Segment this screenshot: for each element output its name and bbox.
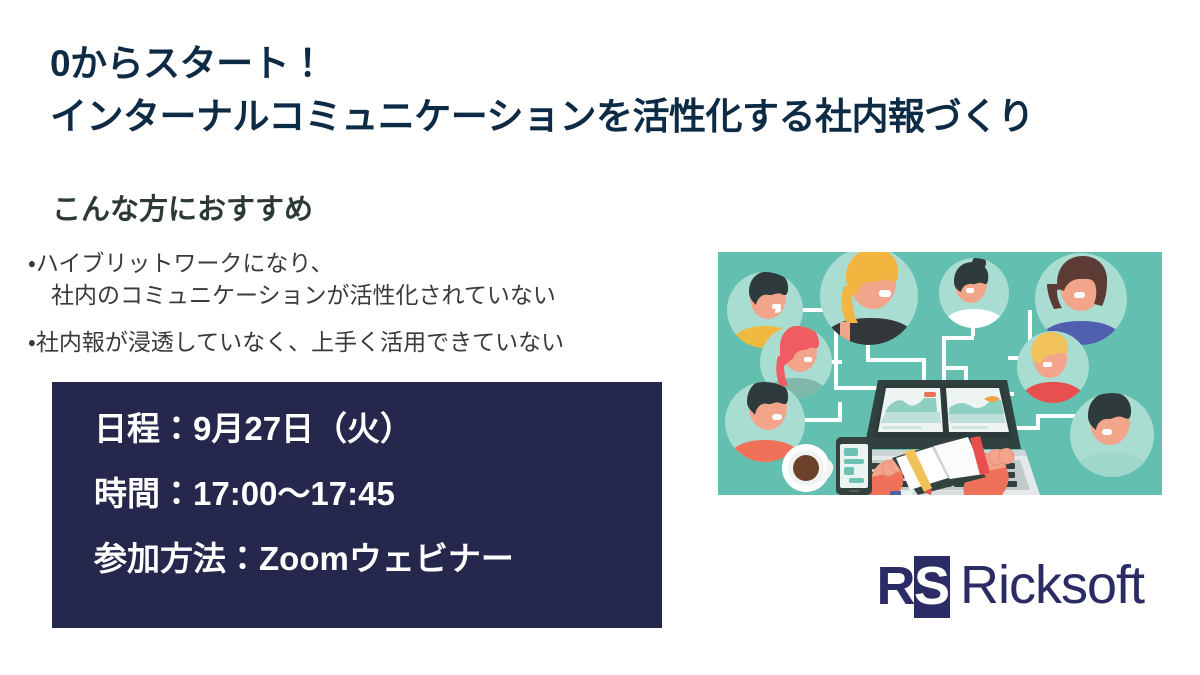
recommendation-list: ・ハイブリットワークになり、 社内のコミュニケーションが活性化されていない ・社… xyxy=(28,248,708,375)
logo-mark-letter-s: S xyxy=(914,556,950,618)
event-date: 日程：9月27日（火） xyxy=(94,412,662,445)
logo-mark-letter-r: R xyxy=(878,556,914,618)
list-item: ・ハイブリットワークになり、 社内のコミュニケーションが活性化されていない xyxy=(28,248,708,311)
list-item: ・社内報が浸透していなく、上手く活用できていない xyxy=(28,327,708,359)
event-join-method: 参加方法：Zoomウェビナー xyxy=(94,542,662,575)
webinar-slide: 0からスタート！ インターナルコミュニケーションを活性化する社内報づくり こんな… xyxy=(0,0,1200,675)
logo-wordmark: Ricksoft xyxy=(960,558,1144,616)
title-line-1: 0からスタート！ xyxy=(50,38,1170,91)
recommendation-heading: こんな方におすすめ xyxy=(52,186,313,228)
event-time: 時間：17:00〜17:45 xyxy=(94,477,662,510)
title-line-2: インターナルコミュニケーションを活性化する社内報づくり xyxy=(50,91,1170,144)
event-details-box: 日程：9月27日（火） 時間：17:00〜17:45 参加方法：Zoomウェビナ… xyxy=(52,382,662,628)
logo-mark-icon: R S xyxy=(878,556,950,618)
ricksoft-logo: R S Ricksoft xyxy=(878,556,1144,618)
remote-team-collaboration-illustration xyxy=(718,252,1162,495)
page-title: 0からスタート！ インターナルコミュニケーションを活性化する社内報づくり xyxy=(50,38,1170,143)
